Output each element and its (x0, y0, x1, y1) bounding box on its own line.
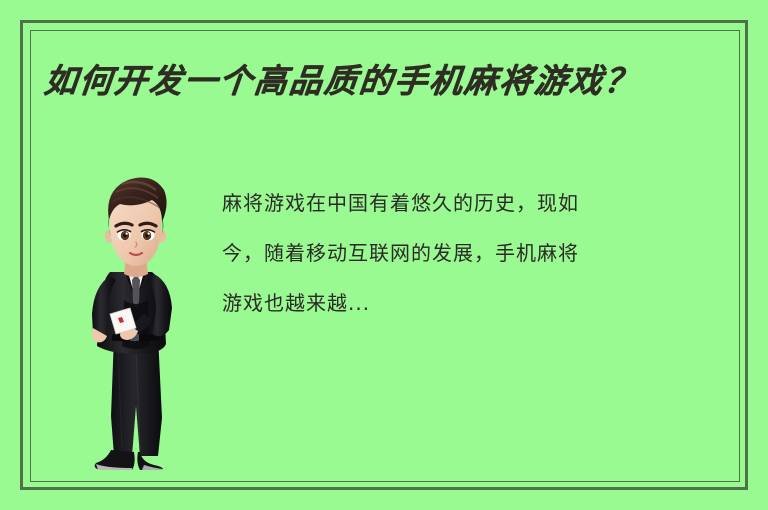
body-text: 麻将游戏在中国有着悠久的历史，现如 今，随着移动互联网的发展，手机麻将 游戏也越… (222, 178, 732, 328)
character-legs (111, 336, 162, 456)
businessman-character-illustration (66, 168, 206, 478)
poster-card: 如何开发一个高品质的手机麻将游戏？ 麻将游戏在中国有着悠久的历史，现如 今，随着… (0, 0, 768, 510)
body-line: 今，随着移动互联网的发展，手机麻将 (222, 228, 732, 278)
body-line: 游戏也越来越... (222, 278, 732, 328)
body-line: 麻将游戏在中国有着悠久的历史，现如 (222, 178, 732, 228)
page-title: 如何开发一个高品质的手机麻将游戏？ (42, 62, 726, 100)
